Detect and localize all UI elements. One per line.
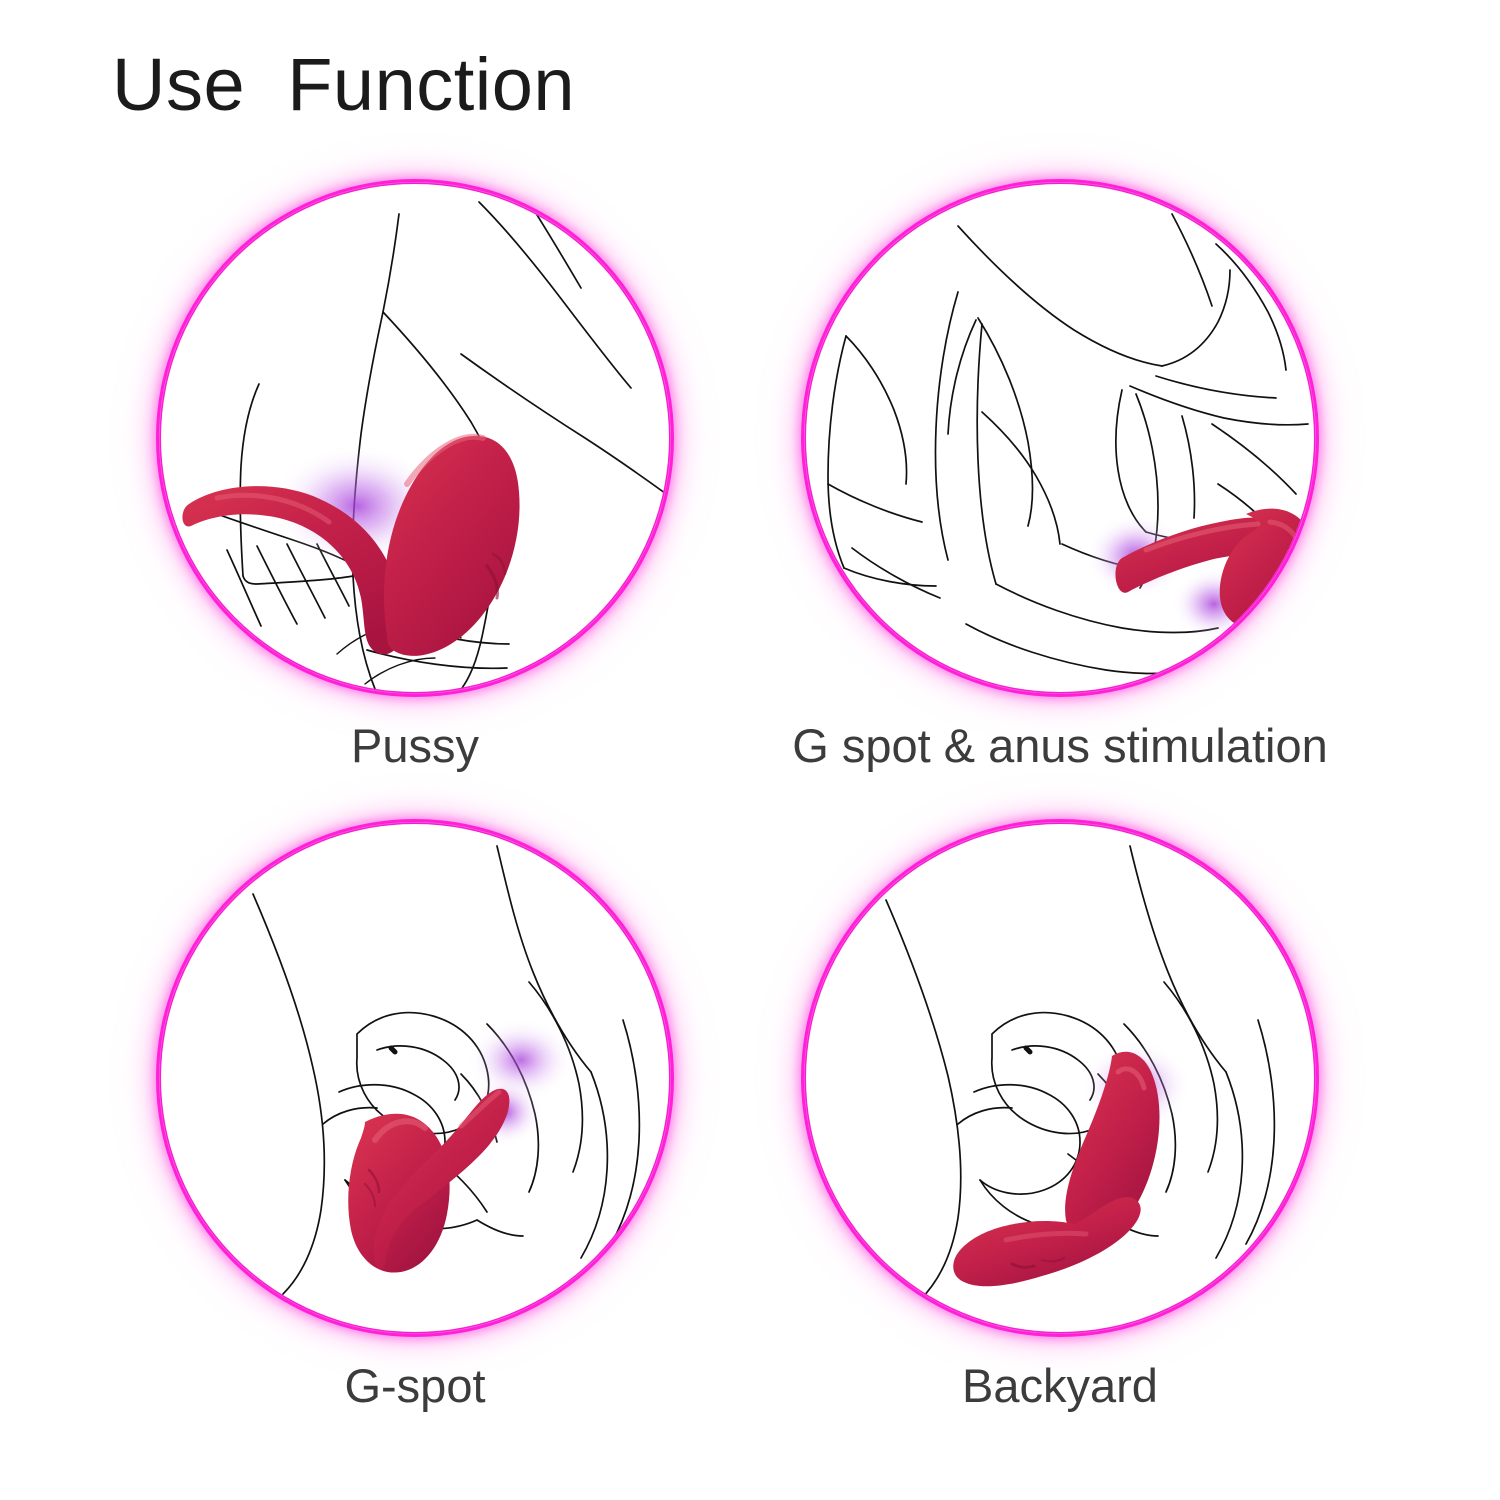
device-u-shaped-vibrator: [953, 1052, 1159, 1287]
illustration-clip: [161, 824, 669, 1332]
circle-frame-backyard: [804, 822, 1316, 1334]
circle-frame-g-spot-anus: [804, 182, 1316, 694]
panel-caption-backyard: Backyard: [740, 1360, 1380, 1412]
circle-frame-pussy: [159, 182, 671, 694]
illustration-line-art-couple-rear-position: [806, 184, 1314, 692]
panel-g-spot-anus[interactable]: G spot & anus stimulation: [740, 160, 1380, 800]
panel-caption-pussy: Pussy: [95, 720, 735, 772]
illustration-line-art-woman-hand-pussy: [161, 184, 669, 692]
illustration-line-art-pelvis-cross-section: [161, 824, 669, 1332]
panel-backyard[interactable]: Backyard: [740, 800, 1380, 1440]
panel-pussy[interactable]: Pussy: [95, 160, 735, 800]
panel-grid: Pussy: [0, 0, 1500, 1500]
illustration-line-art-pelvis-cross-section: [806, 824, 1314, 1332]
panel-caption-g-spot: G-spot: [95, 1360, 735, 1412]
illustration-clip: [806, 824, 1314, 1332]
panel-g-spot[interactable]: G-spot: [95, 800, 735, 1440]
device-u-shaped-vibrator: [348, 1089, 509, 1273]
panel-caption-g-spot-anus: G spot & anus stimulation: [660, 720, 1460, 772]
illustration-clip: [806, 184, 1314, 692]
illustration-clip: [161, 184, 669, 692]
circle-frame-g-spot: [159, 822, 671, 1334]
